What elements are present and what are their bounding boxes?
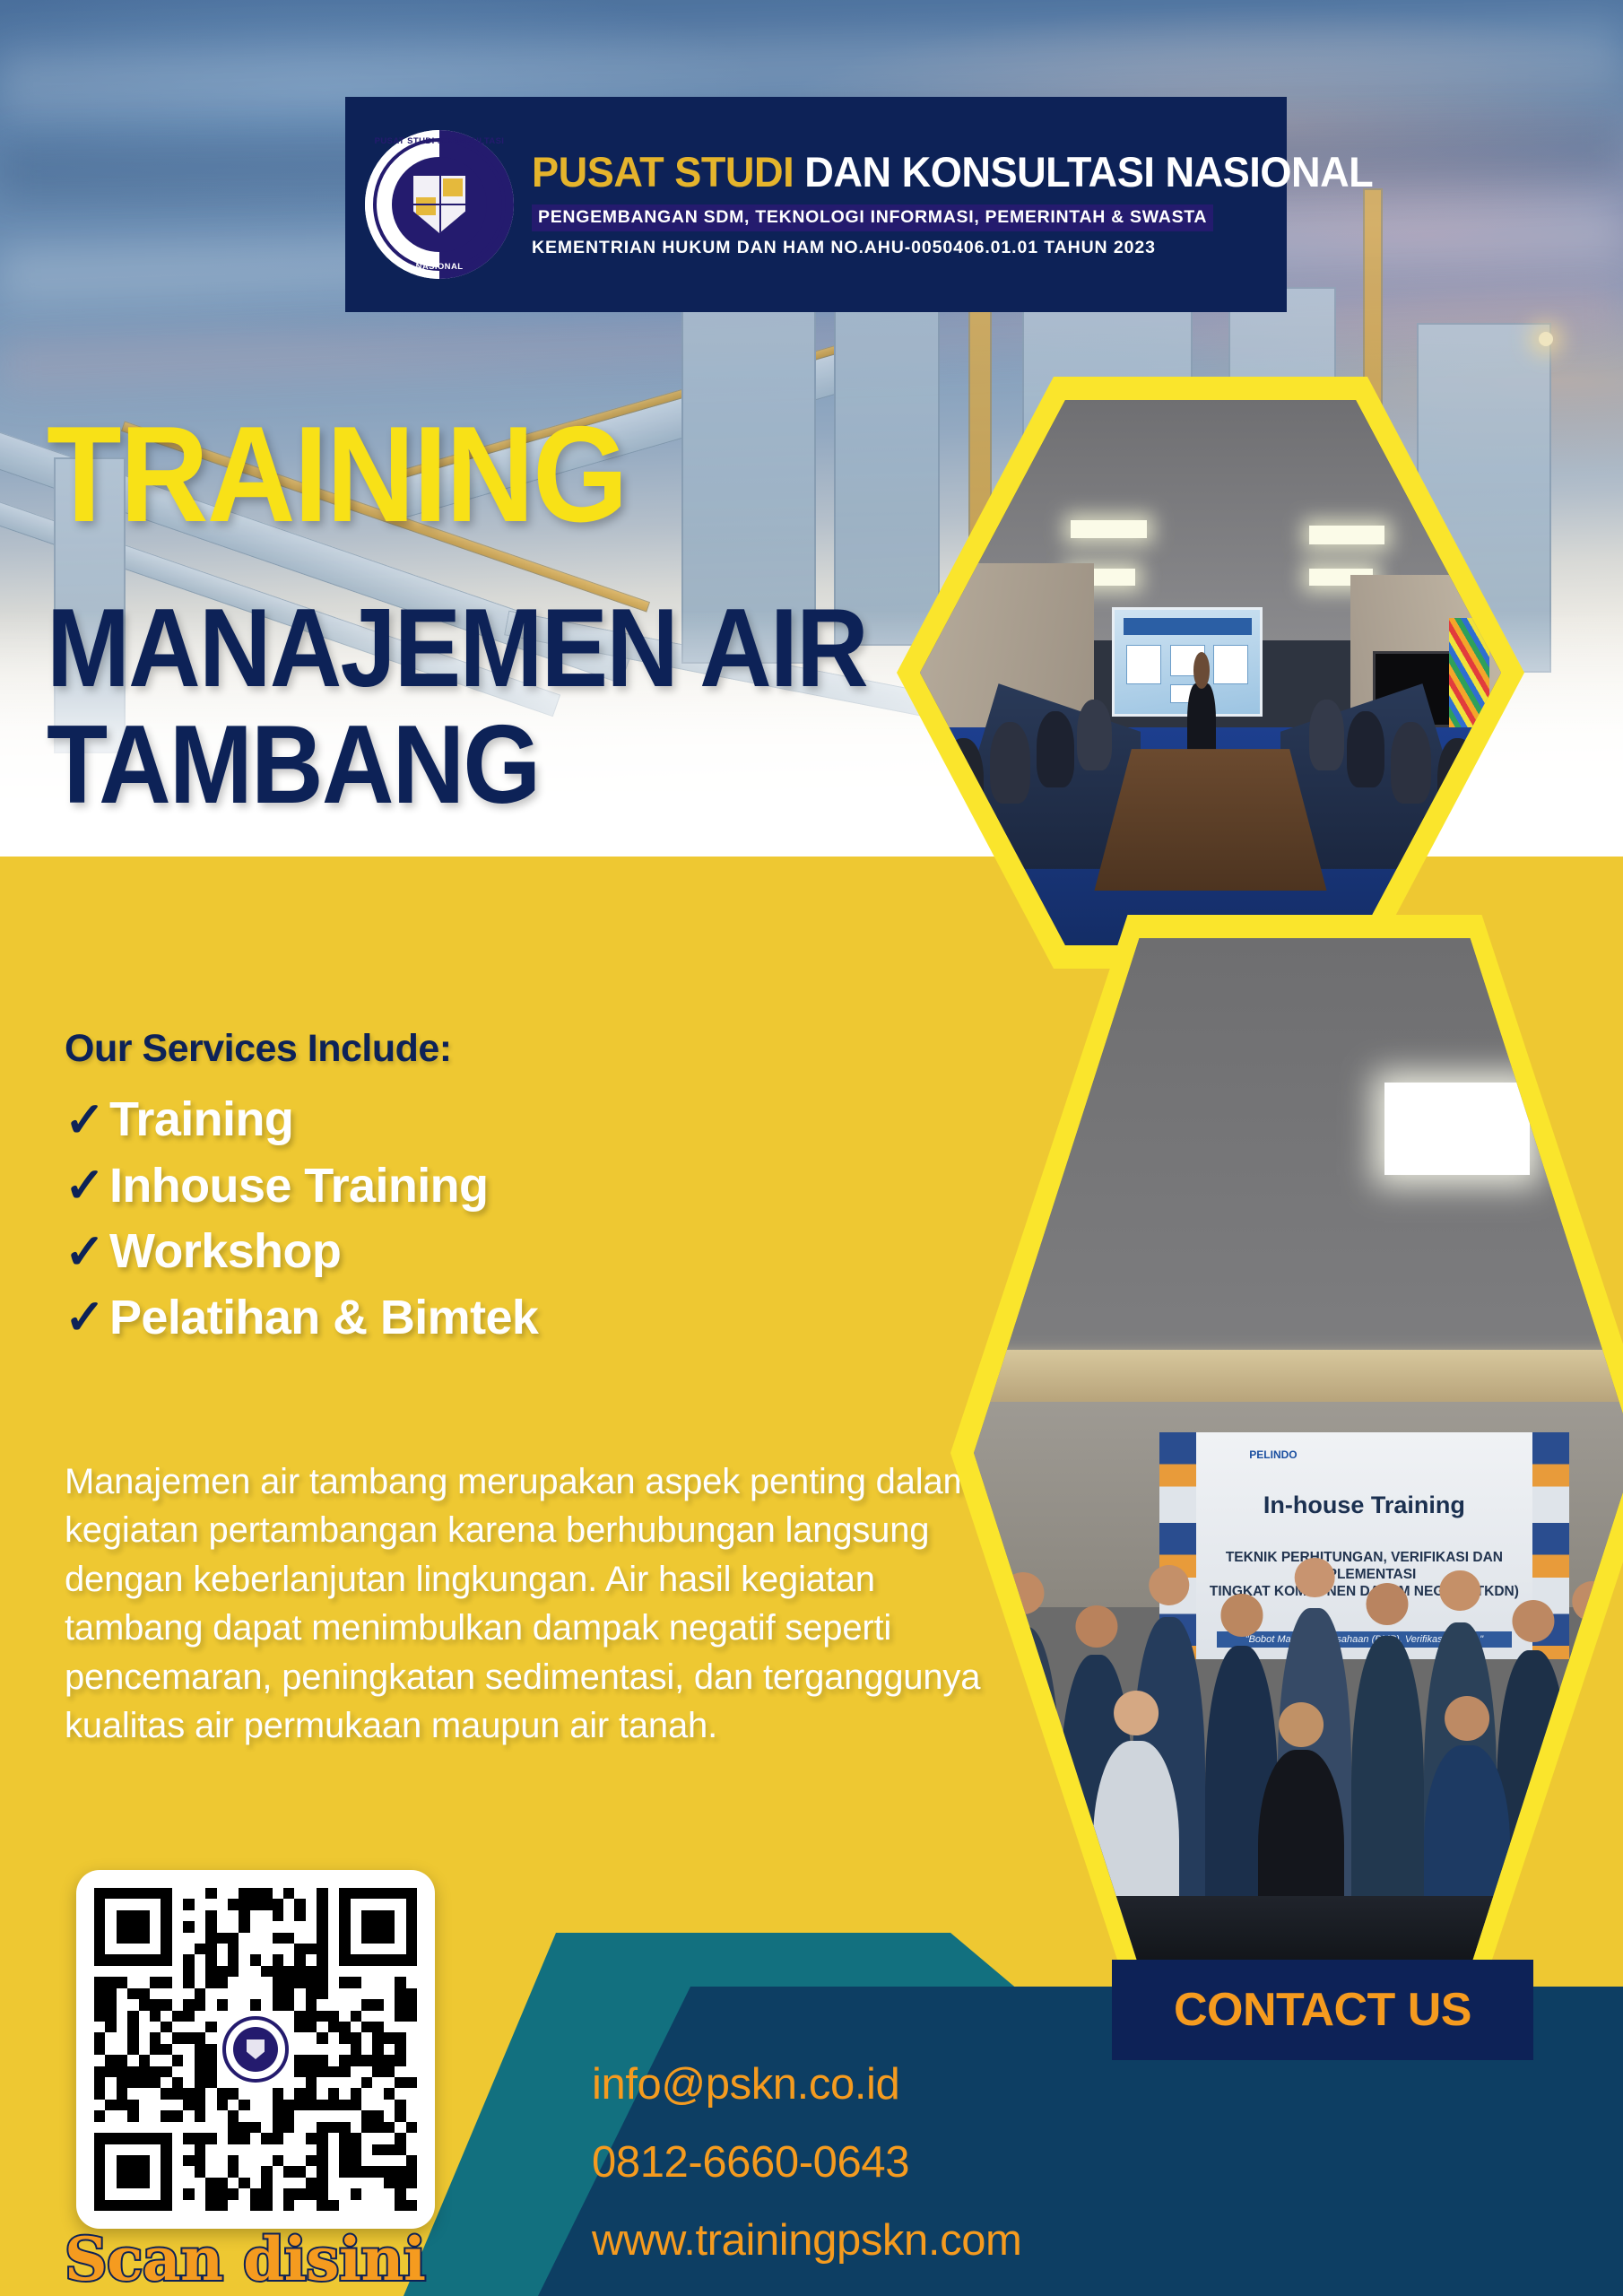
pskn-seal-logo: PUSAT STUDI & KONSULTASI NASIONAL: [365, 130, 514, 279]
check-icon: ✓: [65, 1293, 109, 1342]
brand-title-gold: PUSAT STUDI: [532, 148, 794, 196]
pelindo-logo-text: PELINDO: [1249, 1448, 1297, 1461]
service-item: ✓ Workshop: [65, 1224, 764, 1280]
qr-center-logo: [222, 2016, 289, 2083]
contact-website[interactable]: www.trainingpskn.com: [592, 2219, 1021, 2263]
hexagon-photo-group: PELINDO In-house Training TEKNIK PERHITU…: [950, 915, 1623, 1991]
brand-title-white: DAN KONSULTASI NASIONAL: [804, 148, 1373, 196]
hexagon-photo-training-room: [897, 377, 1524, 969]
service-label: Workshop: [109, 1224, 341, 1280]
headline-line-tambang: TAMBANG: [47, 709, 867, 822]
contact-phone[interactable]: 0812-6660-0643: [592, 2141, 1021, 2185]
check-icon: ✓: [65, 1161, 109, 1210]
brand-header-banner: PUSAT STUDI & KONSULTASI NASIONAL PUSAT …: [345, 97, 1287, 312]
service-item: ✓ Pelatihan & Bimtek: [65, 1291, 764, 1346]
service-label: Training: [109, 1092, 293, 1148]
qr-code-card[interactable]: [76, 1870, 435, 2229]
contact-us-button[interactable]: CONTACT US: [1112, 1960, 1533, 2060]
service-item: ✓ Inhouse Training: [65, 1159, 764, 1214]
headline-line-training: TRAINING: [47, 413, 867, 538]
scan-here-label: Scan disini: [65, 2224, 426, 2294]
seal-shield-icon: [413, 176, 465, 233]
brand-title: PUSAT STUDI DAN KONSULTASI NASIONAL: [532, 151, 1373, 195]
contact-details: info@pskn.co.id 0812-6660-0643 www.train…: [592, 2063, 1021, 2296]
check-icon: ✓: [65, 1096, 109, 1144]
contact-us-label: CONTACT US: [1174, 1983, 1471, 2037]
services-heading: Our Services Include:: [65, 1027, 764, 1071]
service-label: Pelatihan & Bimtek: [109, 1291, 538, 1346]
check-icon: ✓: [65, 1228, 109, 1276]
brand-subtitle-legal: KEMENTRIAN HUKUM DAN HAM NO.AHU-0050406.…: [532, 238, 1408, 258]
description-paragraph: Manajemen air tambang merupakan aspek pe…: [65, 1457, 997, 1750]
brand-subtitle-services: PENGEMBANGAN SDM, TEKNOLOGI INFORMASI, P…: [532, 204, 1213, 231]
seal-arc-bottom-text: NASIONAL: [365, 262, 514, 272]
poster-headline: TRAINING MANAJEMEN AIR TAMBANG: [47, 413, 959, 822]
brand-header-text: PUSAT STUDI DAN KONSULTASI NASIONAL PENG…: [532, 151, 1408, 258]
service-label: Inhouse Training: [109, 1159, 488, 1214]
contact-email[interactable]: info@pskn.co.id: [592, 2063, 1021, 2107]
headline-line-manajemen-air: MANAJEMEN AIR: [47, 592, 867, 705]
services-section: Our Services Include: ✓ Training ✓ Inhou…: [65, 1027, 764, 1356]
poster-root: PUSAT STUDI & KONSULTASI NASIONAL PUSAT …: [0, 0, 1623, 2296]
seal-arc-top-text: PUSAT STUDI & KONSULTASI: [365, 136, 514, 146]
service-item: ✓ Training: [65, 1092, 764, 1148]
